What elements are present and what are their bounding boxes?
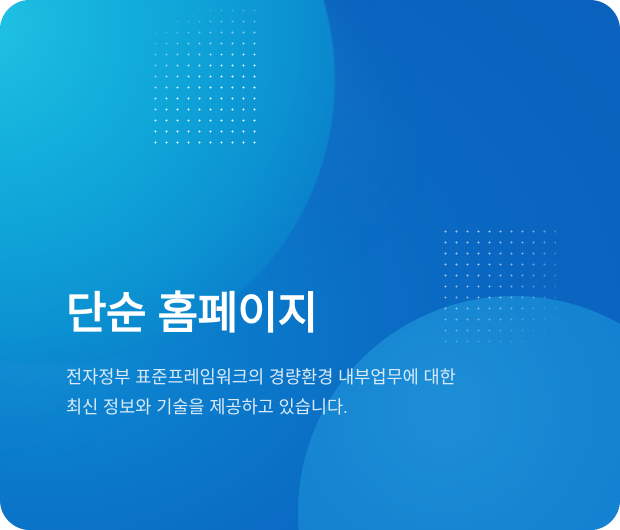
page-title: 단순 홈페이지 [66, 288, 586, 340]
hero-content: 단순 홈페이지 전자정부 표준프레임워크의 경량환경 내부업무에 대한 최신 정… [66, 288, 586, 422]
hero-banner: 단순 홈페이지 전자정부 표준프레임워크의 경량환경 내부업무에 대한 최신 정… [0, 0, 620, 530]
hero-subtitle: 전자정부 표준프레임워크의 경량환경 내부업무에 대한 최신 정보와 기술을 제… [66, 340, 566, 422]
hero-subtitle-line-1: 전자정부 표준프레임워크의 경량환경 내부업무에 대한 [66, 362, 566, 392]
hero-subtitle-line-2: 최신 정보와 기술을 제공하고 있습니다. [66, 392, 566, 422]
